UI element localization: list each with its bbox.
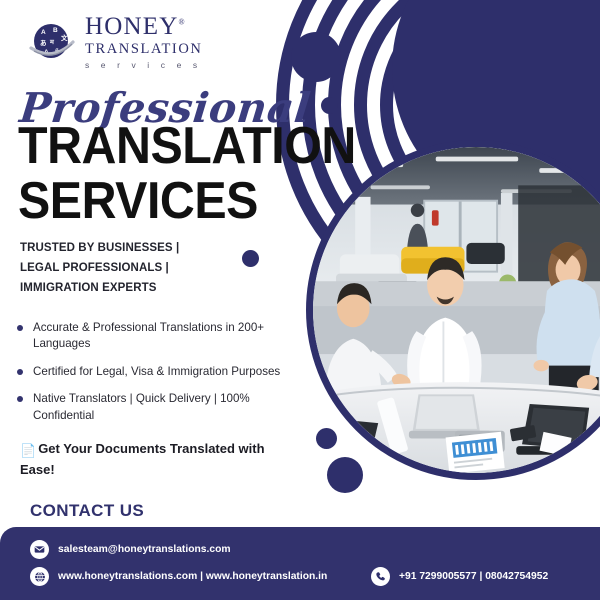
navy-dot-large [291, 32, 341, 82]
contact-email-text: salesteam@honeytranslations.com [58, 544, 231, 555]
hero-headline-line2: SERVICES [18, 179, 258, 225]
navy-dot-bottom-small [316, 428, 337, 449]
logo-name-secondary: TRANSLATION [85, 42, 203, 57]
envelope-icon [30, 540, 49, 559]
cta-label: Get Your Documents Translated with Ease! [20, 441, 265, 477]
navy-dot-small [321, 97, 338, 114]
contact-website-text: www.honeytranslations.com | www.honeytra… [58, 571, 327, 582]
svg-text:あ: あ [40, 38, 47, 47]
phone-icon [371, 567, 390, 586]
trust-line: TRUSTED BY BUSINESSES | LEGAL PROFESSION… [20, 238, 179, 298]
poster-canvas: A B 文 あ म A ñ HONEY® TRANSLATION s e r v… [0, 0, 600, 600]
registered-mark: ® [179, 18, 186, 27]
contact-footer-bar: salesteam@honeytranslations.com www.hone… [0, 527, 600, 600]
trust-line-3: IMMIGRATION EXPERTS [20, 278, 179, 298]
logo-wordmark: HONEY® TRANSLATION s e r v i c e s [85, 14, 203, 69]
contact-website-row[interactable]: www.honeytranslations.com | www.honeytra… [30, 567, 327, 586]
trust-line-2: LEGAL PROFESSIONALS | [20, 258, 179, 278]
contact-email-row[interactable]: salesteam@honeytranslations.com [30, 540, 231, 559]
photo-illustration [313, 147, 600, 473]
document-icon: 📄 [20, 442, 36, 461]
contact-phone-row[interactable]: +91 7299005577 | 08042754952 [371, 567, 548, 586]
photo-inner [313, 147, 600, 473]
trust-line-1: TRUSTED BY BUSINESSES | [20, 238, 179, 258]
navy-dot-mid [242, 250, 259, 267]
hero-headline-line1: TRANSLATION [18, 124, 356, 170]
cta-text: 📄Get Your Documents Translated with Ease… [20, 440, 300, 480]
navy-dot-bottom-large [327, 457, 363, 493]
globe-icon: A B 文 あ म A ñ [28, 18, 76, 66]
contact-phone-text: +91 7299005577 | 08042754952 [399, 571, 548, 582]
svg-text:文: 文 [60, 33, 68, 42]
feature-list: Accurate & Professional Translations in … [14, 320, 306, 435]
list-item: Certified for Legal, Visa & Immigration … [14, 364, 306, 380]
list-item: Accurate & Professional Translations in … [14, 320, 306, 353]
brand-logo[interactable]: A B 文 あ म A ñ HONEY® TRANSLATION s e r v… [28, 14, 203, 69]
svg-text:B: B [53, 27, 58, 34]
contact-heading: CONTACT US [30, 501, 144, 521]
globe-icon [30, 567, 49, 586]
svg-text:A: A [41, 29, 46, 36]
list-item: Native Translators | Quick Delivery | 10… [14, 391, 306, 424]
office-team-photo [306, 140, 600, 480]
logo-name-tertiary: s e r v i c e s [85, 61, 203, 70]
logo-name-primary: HONEY® [85, 14, 203, 39]
